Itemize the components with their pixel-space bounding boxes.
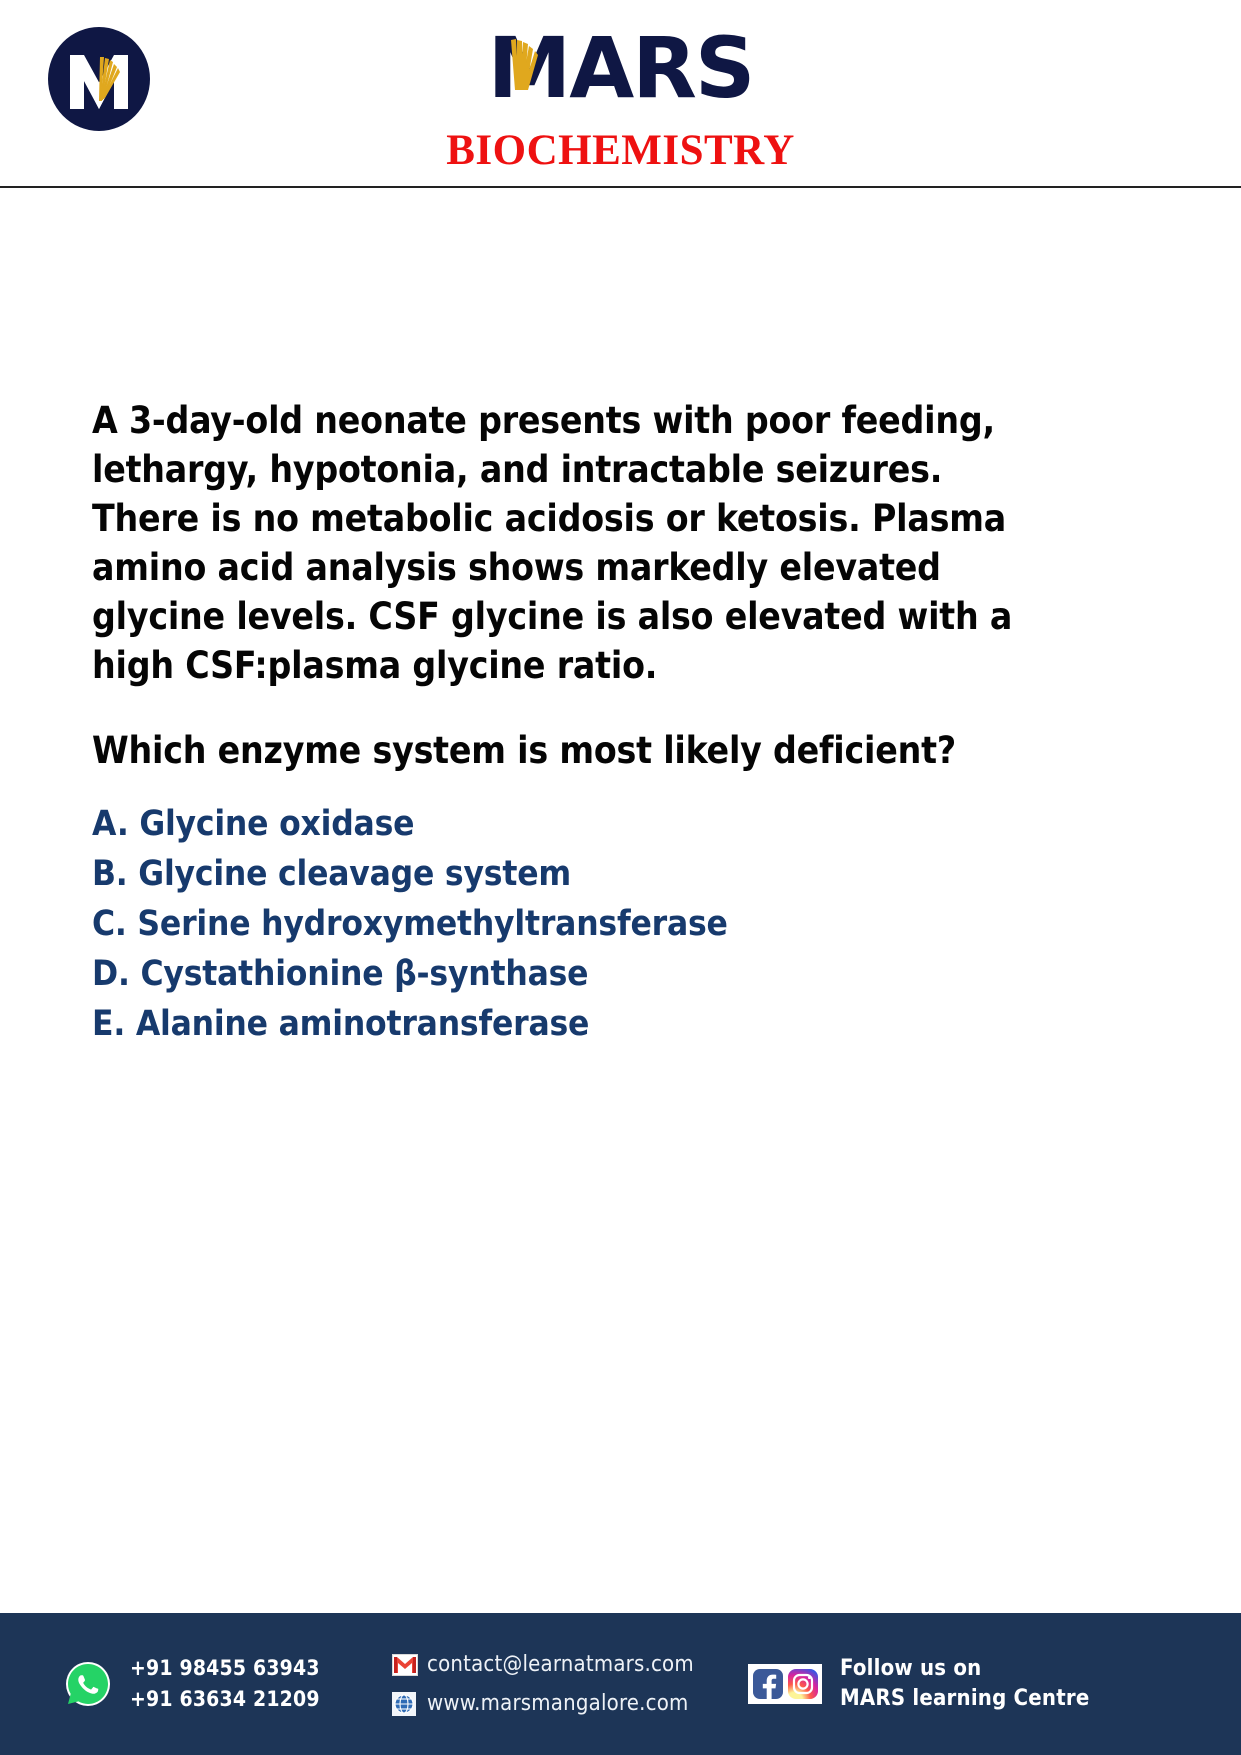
phone-number-2[interactable]: +91 63634 21209 (130, 1684, 320, 1715)
footer-email-row[interactable]: contact@learnatmars.com (392, 1652, 694, 1678)
option-d[interactable]: D. Cystathionine β-synthase (92, 949, 1072, 999)
option-a[interactable]: A. Glycine oxidase (92, 799, 1072, 849)
footer-social-block: Follow us on MARS learning Centre (748, 1654, 1089, 1714)
instagram-icon[interactable] (787, 1668, 819, 1700)
page-footer: +91 98455 63943 +91 63634 21209 contact@… (0, 1613, 1241, 1755)
option-e[interactable]: E. Alanine aminotransferase (92, 999, 1072, 1049)
follow-line-2: MARS learning Centre (840, 1684, 1089, 1714)
footer-phone-block: +91 98455 63943 +91 63634 21209 (62, 1653, 392, 1715)
page-header: MARS BIOCHEMISTRY (0, 0, 1241, 188)
wordmark-gold-rays-icon (451, 22, 791, 114)
footer-follow-text: Follow us on MARS learning Centre (840, 1654, 1089, 1714)
subject-title: BIOCHEMISTRY (0, 126, 1241, 176)
footer-website-row[interactable]: www.marsmangalore.com (392, 1691, 694, 1717)
facebook-icon[interactable] (752, 1668, 784, 1700)
whatsapp-icon[interactable] (62, 1658, 114, 1710)
question-stem: A 3-day-old neonate presents with poor f… (92, 396, 1052, 690)
question-lead: Which enzyme system is most likely defic… (92, 726, 1052, 775)
phone-number-1[interactable]: +91 98455 63943 (130, 1653, 320, 1684)
footer-website-text: www.marsmangalore.com (427, 1691, 689, 1717)
footer-email-text: contact@learnatmars.com (427, 1652, 694, 1678)
gmail-icon (392, 1654, 418, 1676)
follow-line-1: Follow us on (840, 1654, 1089, 1684)
option-c[interactable]: C. Serine hydroxymethyltransferase (92, 899, 1072, 949)
answer-options-list: A. Glycine oxidase B. Glycine cleavage s… (92, 799, 1072, 1049)
globe-icon (392, 1692, 416, 1716)
footer-phone-numbers: +91 98455 63943 +91 63634 21209 (130, 1653, 320, 1715)
question-content: A 3-day-old neonate presents with poor f… (0, 188, 1241, 1613)
social-icon-group (748, 1664, 822, 1704)
footer-web-block: contact@learnatmars.com www.marsmangalor… (392, 1652, 722, 1717)
option-b[interactable]: B. Glycine cleavage system (92, 849, 1072, 899)
brand-wordmark: MARS (0, 22, 1241, 119)
